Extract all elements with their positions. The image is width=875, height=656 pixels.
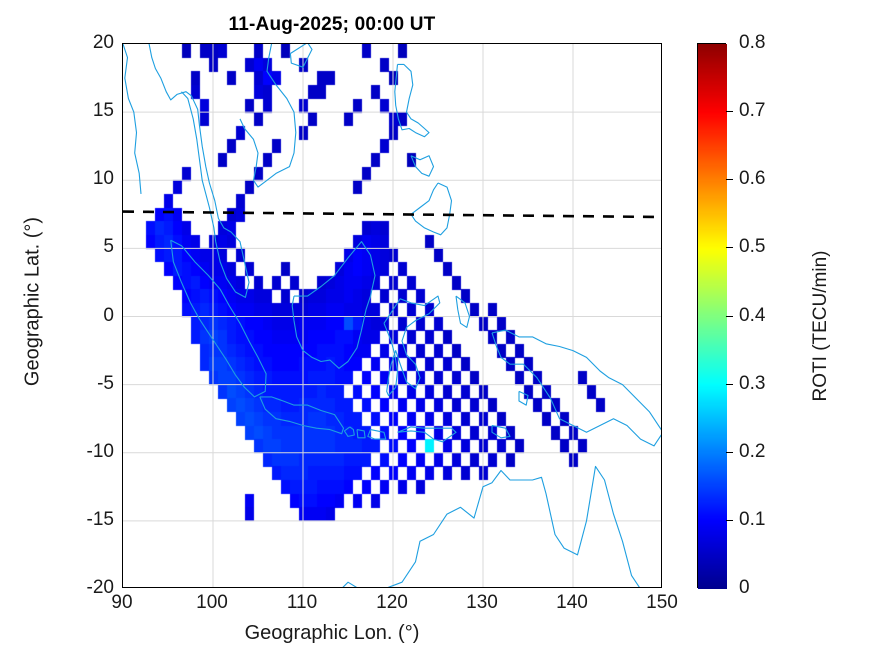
y-tick-label: 10 — [62, 168, 114, 190]
y-tick-label: 5 — [62, 236, 114, 258]
colorbar-tick — [726, 384, 733, 385]
colorbar-tick — [726, 247, 733, 248]
plot-area — [122, 43, 662, 588]
x-tick-label: 110 — [287, 592, 317, 614]
x-tick-label: 150 — [646, 592, 678, 614]
plot-layers — [123, 44, 661, 587]
y-tick-label: -15 — [62, 509, 114, 531]
colorbar-tick-label: 0.1 — [739, 509, 765, 531]
colorbar — [697, 43, 726, 588]
x-tick-label: 90 — [111, 592, 132, 614]
colorbar-tick — [726, 179, 733, 180]
x-tick-label: 100 — [196, 592, 228, 614]
colorbar-tick — [726, 316, 733, 317]
x-tick-label: 140 — [556, 592, 588, 614]
colorbar-tick-label: 0.5 — [739, 236, 765, 258]
colorbar-tick-label: 0.2 — [739, 441, 765, 463]
x-tick-label: 120 — [376, 592, 408, 614]
colorbar-tick-label: 0.3 — [739, 373, 765, 395]
x-tick-label: 130 — [466, 592, 498, 614]
y-tick-label: 15 — [62, 100, 114, 122]
colorbar-tick-label: 0.4 — [739, 305, 765, 327]
colorbar-tick — [726, 111, 733, 112]
y-tick-label: -20 — [62, 577, 114, 599]
colorbar-tick-label: 0.7 — [739, 100, 765, 122]
map-overlay — [123, 44, 662, 588]
colorbar-tick — [726, 452, 733, 453]
y-tick-label: 20 — [62, 32, 114, 54]
y-axis-label: Geographic Lat. (°) — [22, 132, 45, 472]
x-axis-label: Geographic Lon. (°) — [0, 622, 664, 645]
y-tick-label: -10 — [62, 441, 114, 463]
colorbar-gradient — [698, 44, 727, 589]
colorbar-tick — [726, 520, 733, 521]
y-tick-label: -5 — [62, 373, 114, 395]
colorbar-label: ROTI (TECU/min) — [810, 156, 832, 496]
colorbar-tick-label: 0 — [739, 577, 750, 599]
colorbar-tick-label: 0.8 — [739, 32, 765, 54]
y-tick-label: 0 — [62, 305, 114, 327]
colorbar-tick-label: 0.6 — [739, 168, 765, 190]
roti-map-figure: 11-Aug-2025; 00:00 UT 901001101201301401… — [0, 0, 875, 656]
